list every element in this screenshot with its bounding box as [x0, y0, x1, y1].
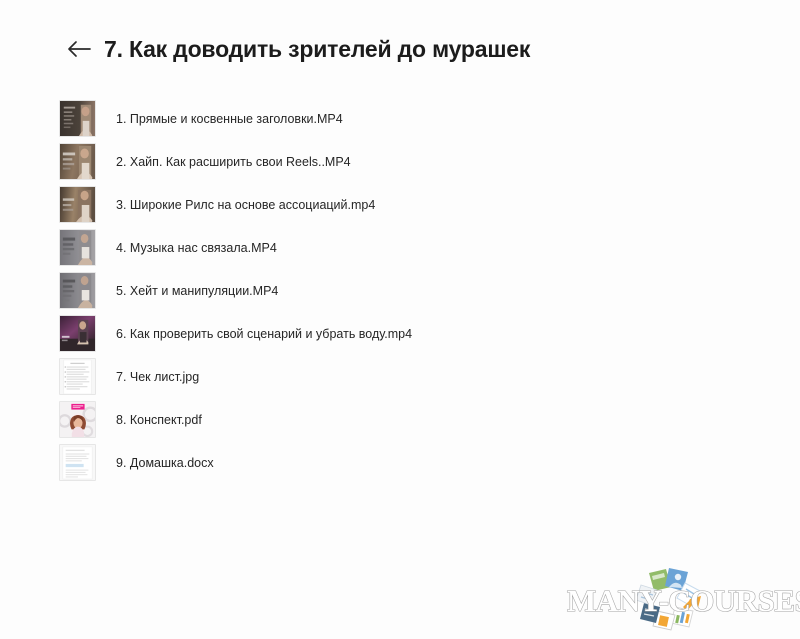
page-header: 7. Как доводить зрителей до мурашек	[0, 0, 800, 92]
document-thumbnail	[59, 358, 96, 395]
watermark: MANY-COURSES.NET	[565, 565, 800, 639]
file-name: 4. Музыка нас связала.MP4	[116, 240, 277, 256]
file-name: 1. Прямые и косвенные заголовки.MP4	[116, 111, 343, 127]
list-item[interactable]: 2. Хайп. Как расширить свои Reels..MP4	[0, 140, 800, 183]
file-name: 2. Хайп. Как расширить свои Reels..MP4	[116, 154, 351, 170]
page-title: 7. Как доводить зрителей до мурашек	[104, 33, 530, 65]
list-item[interactable]: 1. Прямые и косвенные заголовки.MP4	[0, 97, 800, 140]
pdf-thumbnail	[59, 401, 96, 438]
video-thumbnail	[59, 272, 96, 309]
circular-documents-logo	[636, 568, 701, 630]
list-item[interactable]: 5. Хейт и манипуляции.MP4	[0, 269, 800, 312]
list-item[interactable]: 4. Музыка нас связала.MP4	[0, 226, 800, 269]
arrow-left-icon	[66, 39, 92, 59]
back-button[interactable]	[62, 33, 96, 65]
video-thumbnail	[59, 143, 96, 180]
file-name: 6. Как проверить свой сценарий и убрать …	[116, 326, 412, 342]
file-name: 8. Конспект.pdf	[116, 412, 202, 428]
video-thumbnail	[59, 229, 96, 266]
list-item[interactable]: 7. Чек лист.jpg	[0, 355, 800, 398]
list-item[interactable]: 3. Широкие Рилс на основе ассоциаций.mp4	[0, 183, 800, 226]
file-name: 7. Чек лист.jpg	[116, 369, 199, 385]
docx-thumbnail	[59, 444, 96, 481]
list-item[interactable]: 8. Конспект.pdf	[0, 398, 800, 441]
video-thumbnail	[59, 100, 96, 137]
file-name: 3. Широкие Рилс на основе ассоциаций.mp4	[116, 197, 375, 213]
file-list: 1. Прямые и косвенные заголовки.MP4	[0, 97, 800, 484]
file-name: 9. Домашка.docx	[116, 455, 214, 471]
file-name: 5. Хейт и манипуляции.MP4	[116, 283, 278, 299]
video-thumbnail	[59, 315, 96, 352]
list-item[interactable]: 6. Как проверить свой сценарий и убрать …	[0, 312, 800, 355]
watermark-text: MANY-COURSES.NET	[567, 583, 800, 618]
list-item[interactable]: 9. Домашка.docx	[0, 441, 800, 484]
video-thumbnail	[59, 186, 96, 223]
